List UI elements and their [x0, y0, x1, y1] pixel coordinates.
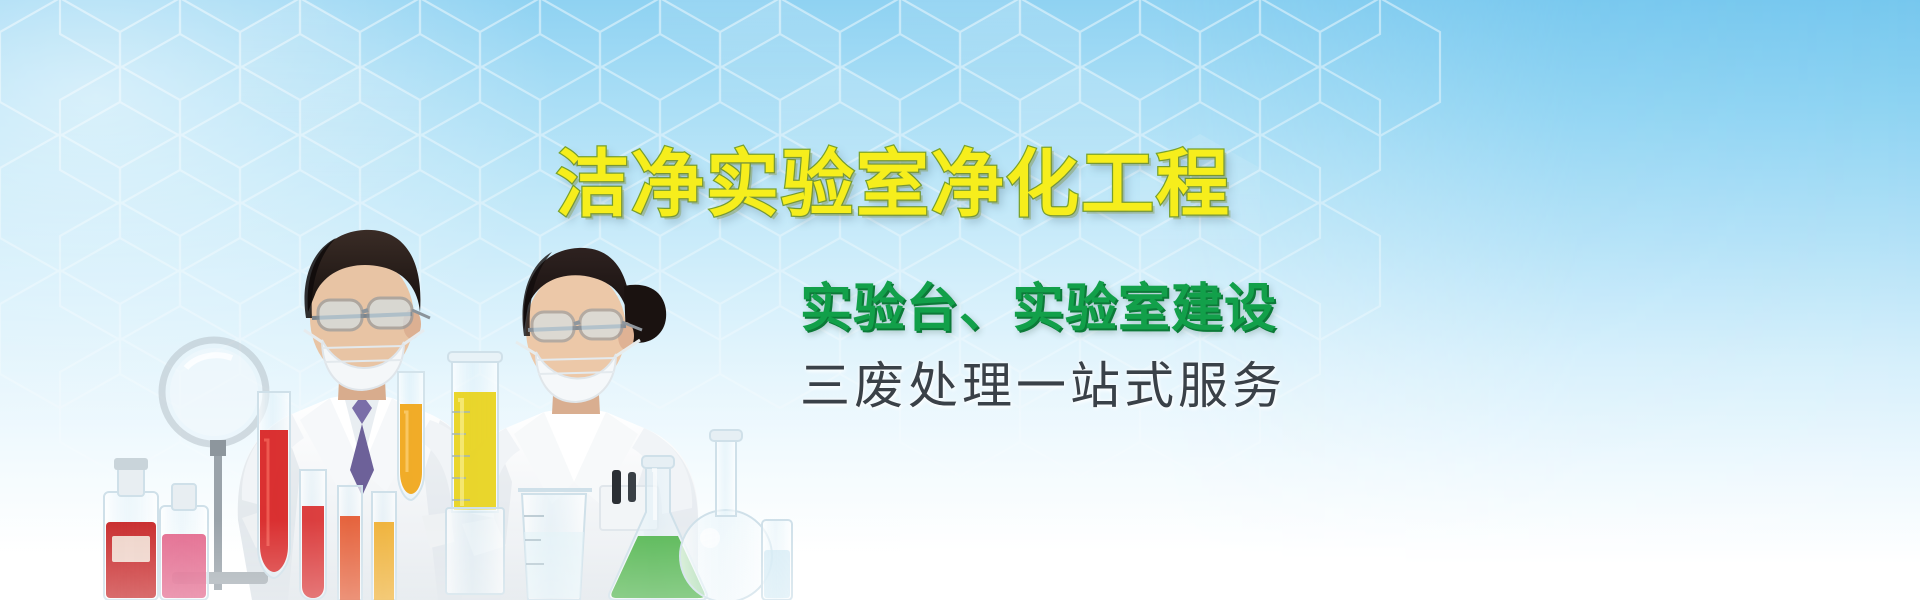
headline-primary: 洁净实验室净化工程 [556, 148, 1231, 222]
headline-secondary: 实验台、实验室建设 [800, 282, 1277, 336]
headline-block: 洁净实验室净化工程 实验台、实验室建设 三废处理一站式服务 [0, 0, 1920, 600]
lab-banner: 洁净实验室净化工程 实验台、实验室建设 三废处理一站式服务 [0, 0, 1920, 600]
headline-tertiary: 三废处理一站式服务 [800, 360, 1286, 412]
